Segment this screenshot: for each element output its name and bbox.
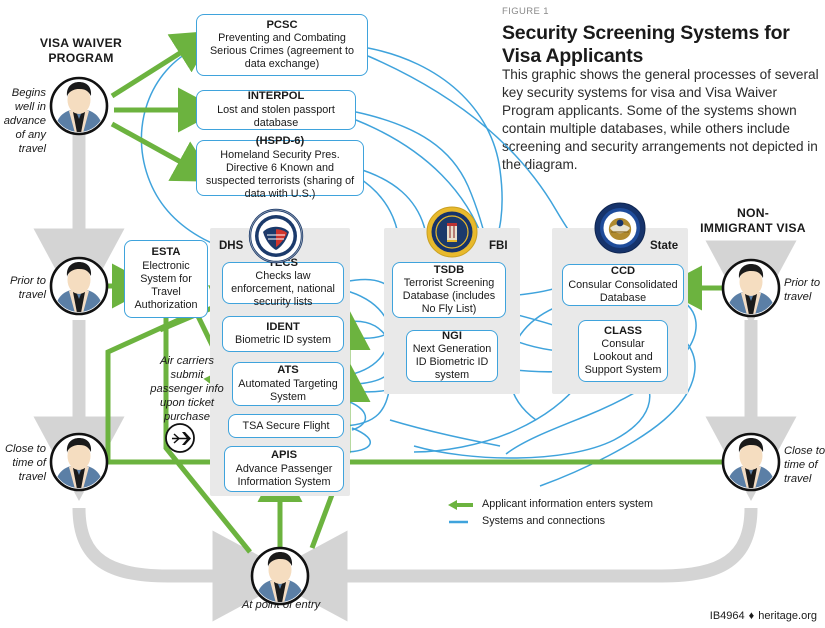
- blue-line-icon: [448, 515, 474, 527]
- avatar-niv: [723, 260, 779, 316]
- footer-site[interactable]: heritage.org: [758, 610, 817, 622]
- applicant-avatars: [0, 0, 825, 628]
- footer-id-code: IB4964: [710, 610, 745, 622]
- avatar-vwp: [51, 78, 107, 134]
- avatar-prior-to-travel: [51, 258, 107, 314]
- legend-item-system-link: Systems and connections: [448, 513, 653, 528]
- legend: Applicant information enters system Syst…: [448, 496, 653, 530]
- legend-label-system-link: Systems and connections: [482, 515, 605, 527]
- heritage-crest-icon: ♦: [749, 611, 755, 622]
- legend-label-applicant-flow: Applicant information enters system: [482, 498, 653, 510]
- infographic-canvas: FIGURE 1 Security Screening Systems for …: [0, 0, 825, 628]
- footer: IB4964 ♦ heritage.org: [710, 610, 817, 622]
- avatar-close-to-travel: [51, 434, 107, 490]
- green-arrow-icon: [448, 498, 474, 510]
- avatar-point-of-entry: [252, 548, 308, 604]
- avatar-niv-close: [723, 434, 779, 490]
- legend-item-applicant-flow: Applicant information enters system: [448, 496, 653, 511]
- airplane-icon: [166, 424, 194, 452]
